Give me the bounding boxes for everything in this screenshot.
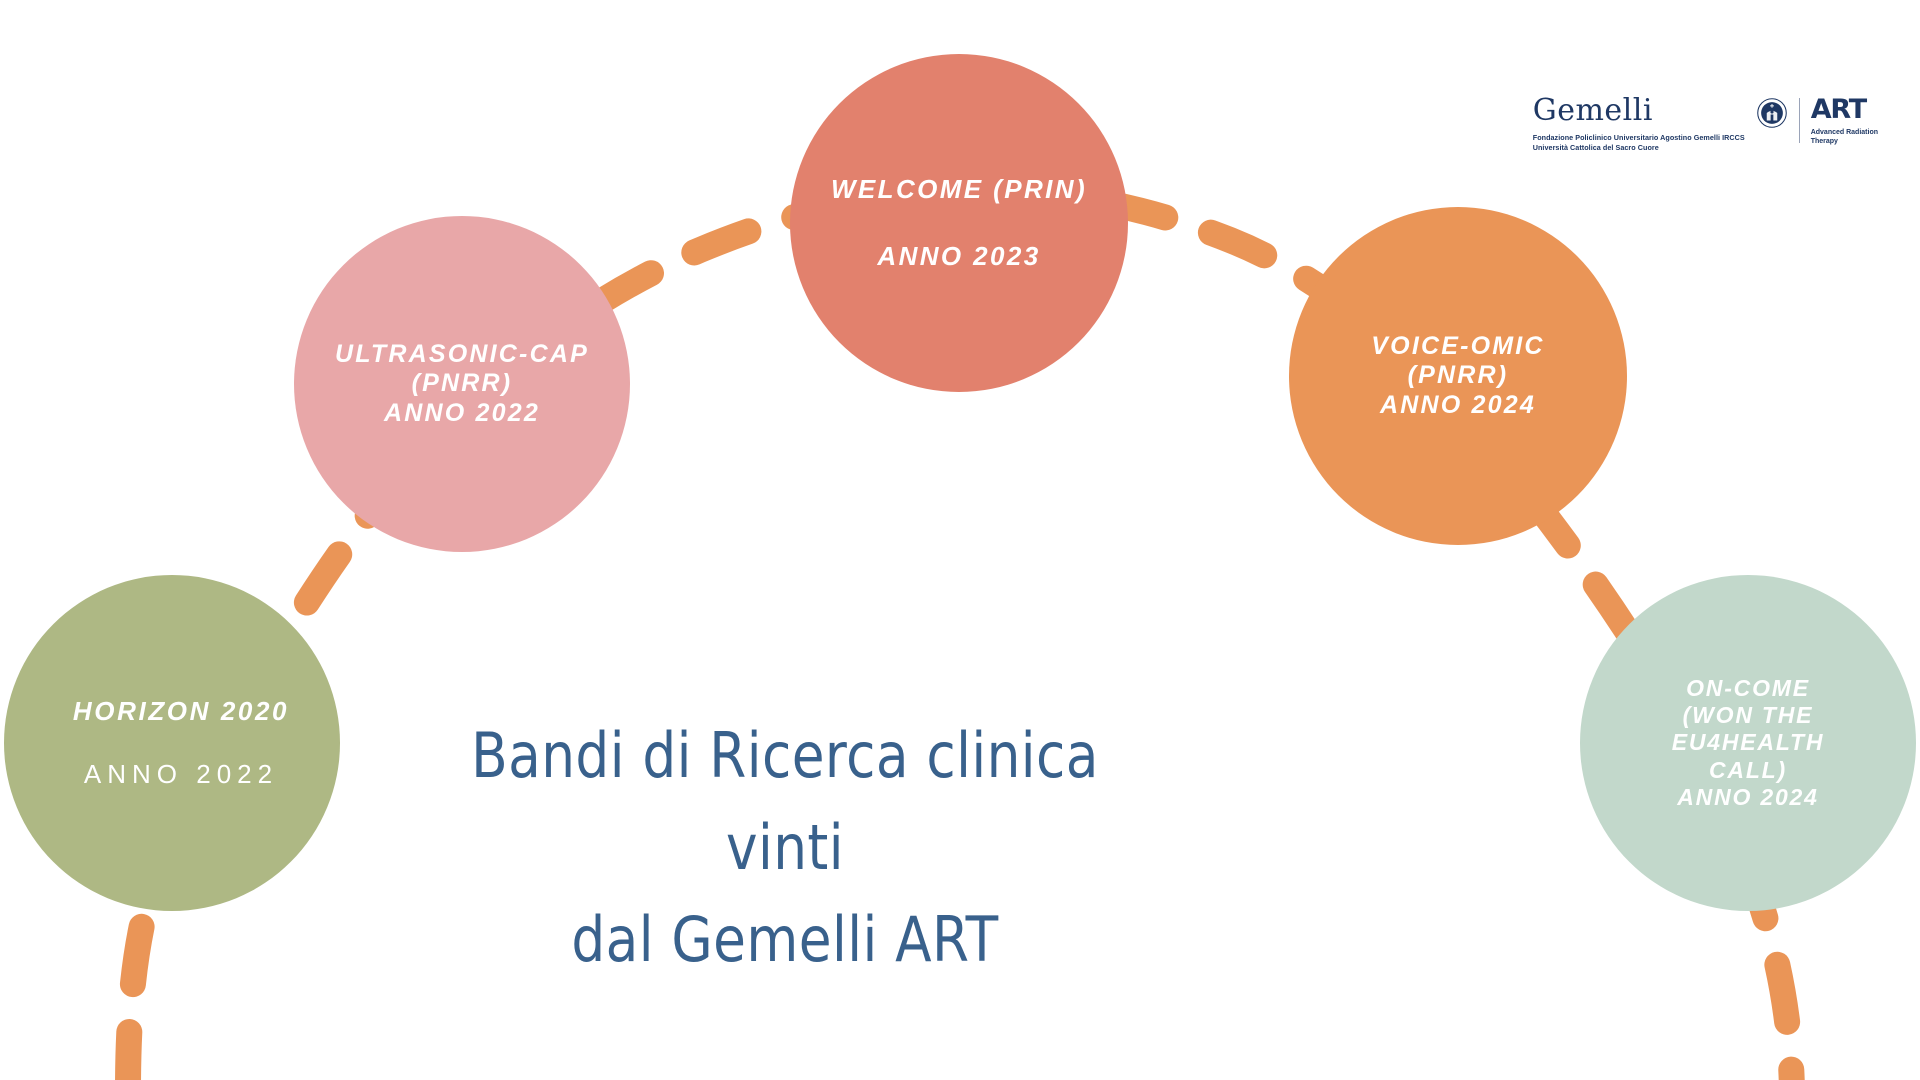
gemelli-logo-subtitle: Fondazione Policlinico Universitario Ago… [1533, 133, 1745, 153]
node-horizon-title: HORIZON 2020 [73, 696, 289, 727]
page-title: Bandi di Ricerca clinica vinti dal Gemel… [428, 710, 1142, 985]
node-oncome-year: ANNO 2024 [1677, 784, 1818, 811]
node-welcome-title: WELCOME (PRIN) [831, 174, 1087, 205]
slide-canvas: HORIZON 2020 ANNO 2022 ULTRASONIC-CAP (P… [0, 0, 1920, 1080]
node-oncome-title: ON-COME [1686, 675, 1810, 702]
gemelli-subtitle-line-1: Fondazione Policlinico Universitario Ago… [1533, 133, 1745, 143]
node-voice-omic[interactable]: VOICE-OMIC (PNRR) ANNO 2024 [1289, 207, 1627, 545]
node-voice-year: ANNO 2024 [1380, 391, 1536, 421]
art-logo-block: ART Advanced Radiation Therapy [1811, 96, 1878, 147]
node-voice-title: VOICE-OMIC [1371, 332, 1544, 362]
art-subtitle-line-1: Advanced Radiation [1811, 128, 1878, 137]
node-welcome-year: ANNO 2023 [877, 241, 1040, 272]
node-oncome-detail-2: EU4HEALTH [1672, 729, 1825, 756]
gemelli-wordmark: Gemelli [1533, 96, 1745, 126]
node-ultrasonic-year: ANNO 2022 [384, 399, 540, 429]
gemelli-subtitle-line-2: Università Cattolica del Sacro Cuore [1533, 143, 1745, 153]
node-on-come[interactable]: ON-COME (WON THE EU4HEALTH CALL) ANNO 20… [1580, 575, 1916, 911]
logo-divider [1799, 98, 1800, 143]
node-ultrasonic-title: ULTRASONIC-CAP [335, 340, 589, 370]
gemelli-logo-block: Gemelli Fondazione Policlinico Universit… [1533, 96, 1745, 153]
node-oncome-detail-3: CALL) [1709, 757, 1787, 784]
art-wordmark: ART [1811, 97, 1878, 123]
page-title-line-1: Bandi di Ricerca clinica vinti [428, 710, 1142, 894]
node-welcome-prin[interactable]: WELCOME (PRIN) ANNO 2023 [790, 54, 1128, 392]
node-ultrasonic-program: (PNRR) [412, 369, 513, 399]
university-crest-icon [1757, 98, 1787, 128]
gemelli-art-logo: Gemelli Fondazione Policlinico Universit… [1533, 96, 1878, 153]
node-voice-program: (PNRR) [1408, 361, 1509, 391]
art-subtitle-line-2: Therapy [1811, 137, 1878, 146]
art-logo-subtitle: Advanced Radiation Therapy [1811, 128, 1878, 147]
node-ultrasonic-cap[interactable]: ULTRASONIC-CAP (PNRR) ANNO 2022 [294, 216, 630, 552]
page-title-line-2: dal Gemelli ART [428, 894, 1142, 986]
node-horizon[interactable]: HORIZON 2020 ANNO 2022 [4, 575, 340, 911]
node-oncome-detail-1: (WON THE [1683, 702, 1814, 729]
node-horizon-year: ANNO 2022 [84, 759, 278, 790]
